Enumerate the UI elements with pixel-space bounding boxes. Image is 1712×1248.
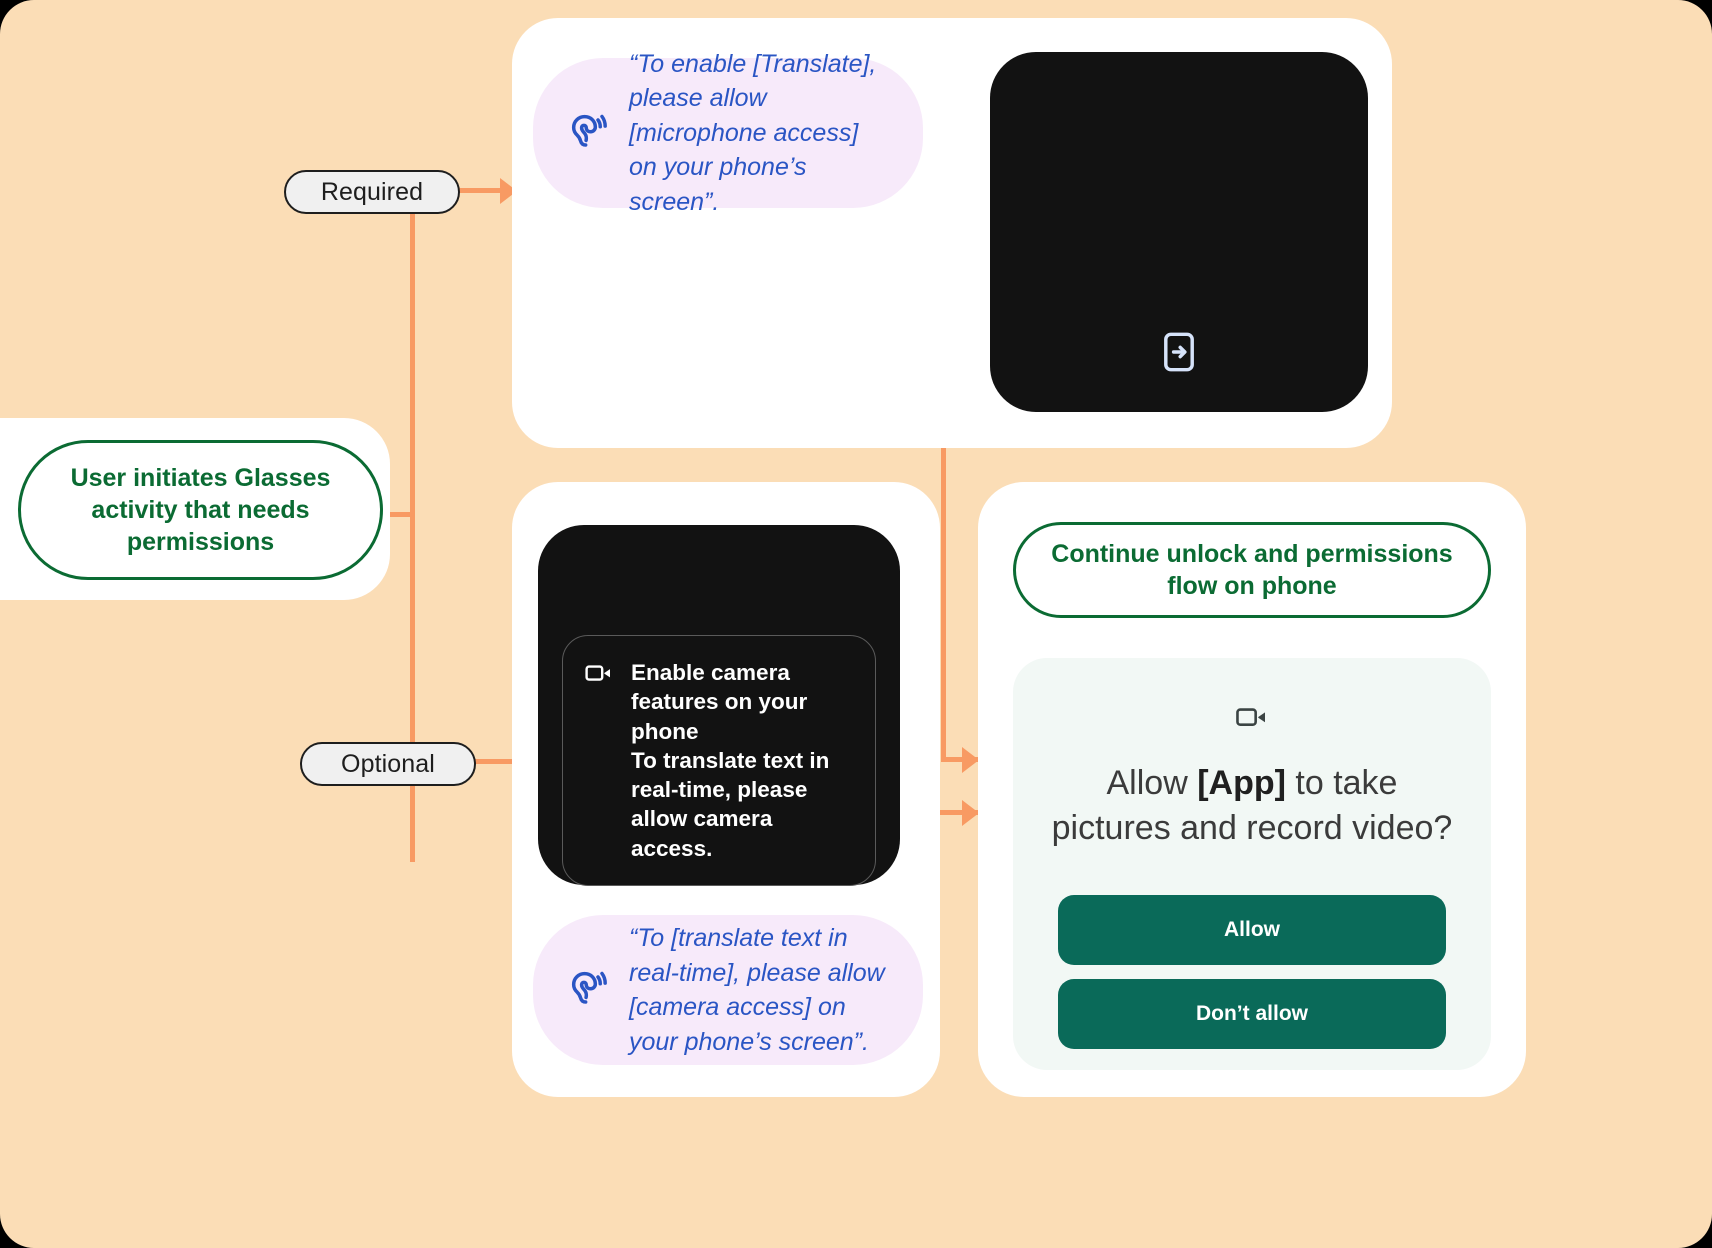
permission-dialog: Allow [App] to take pictures and record … [1013, 658, 1491, 1070]
ear-hearing-icon [567, 111, 607, 156]
allow-button-label: Allow [1224, 918, 1280, 942]
permission-question-app: [App] [1197, 764, 1286, 802]
dont-allow-button[interactable]: Don’t allow [1058, 979, 1445, 1049]
diagram-canvas: User initiates Glasses activity that nee… [0, 0, 1712, 1248]
video-camera-icon [1235, 704, 1269, 735]
arrowhead-vertical-phone [962, 747, 979, 773]
glasses-screen-optional: Enable camera features on your phone To … [538, 525, 900, 885]
ear-hearing-icon [567, 968, 607, 1013]
video-camera-icon [585, 658, 613, 863]
glasses-notification-title: Enable camera features on your phone [631, 660, 807, 744]
phone-arrow-icon [1161, 331, 1197, 378]
permission-dialog-question: Allow [App] to take pictures and record … [1046, 761, 1457, 851]
speech-bubble-optional-text: “To [translate text in real-time], pleas… [629, 921, 889, 1059]
permission-question-prefix: Allow [1107, 764, 1198, 802]
glasses-notification-text: Enable camera features on your phone To … [631, 658, 853, 863]
phone-flow-heading: Continue unlock and permissions flow on … [1013, 522, 1491, 618]
branch-pill-required-label: Required [321, 178, 423, 207]
glasses-notification-card: Enable camera features on your phone To … [562, 635, 876, 886]
branch-pill-optional-label: Optional [341, 750, 435, 779]
glasses-notification-body: To translate text in real-time, please a… [631, 748, 829, 861]
speech-bubble-required-text: “To enable [Translate], please allow [mi… [629, 47, 889, 220]
arrowhead-device-phone [962, 800, 979, 826]
phone-flow-heading-label: Continue unlock and permissions flow on … [1046, 538, 1458, 602]
speech-bubble-optional: “To [translate text in real-time], pleas… [533, 915, 923, 1065]
speech-bubble-required: “To enable [Translate], please allow [mi… [533, 58, 923, 208]
glasses-screen-required [990, 52, 1368, 412]
start-node: User initiates Glasses activity that nee… [18, 440, 383, 580]
branch-pill-optional[interactable]: Optional [300, 742, 476, 786]
start-node-label: User initiates Glasses activity that nee… [55, 462, 346, 558]
branch-pill-required[interactable]: Required [284, 170, 460, 214]
allow-button[interactable]: Allow [1058, 895, 1445, 965]
dont-allow-button-label: Don’t allow [1196, 1002, 1308, 1026]
